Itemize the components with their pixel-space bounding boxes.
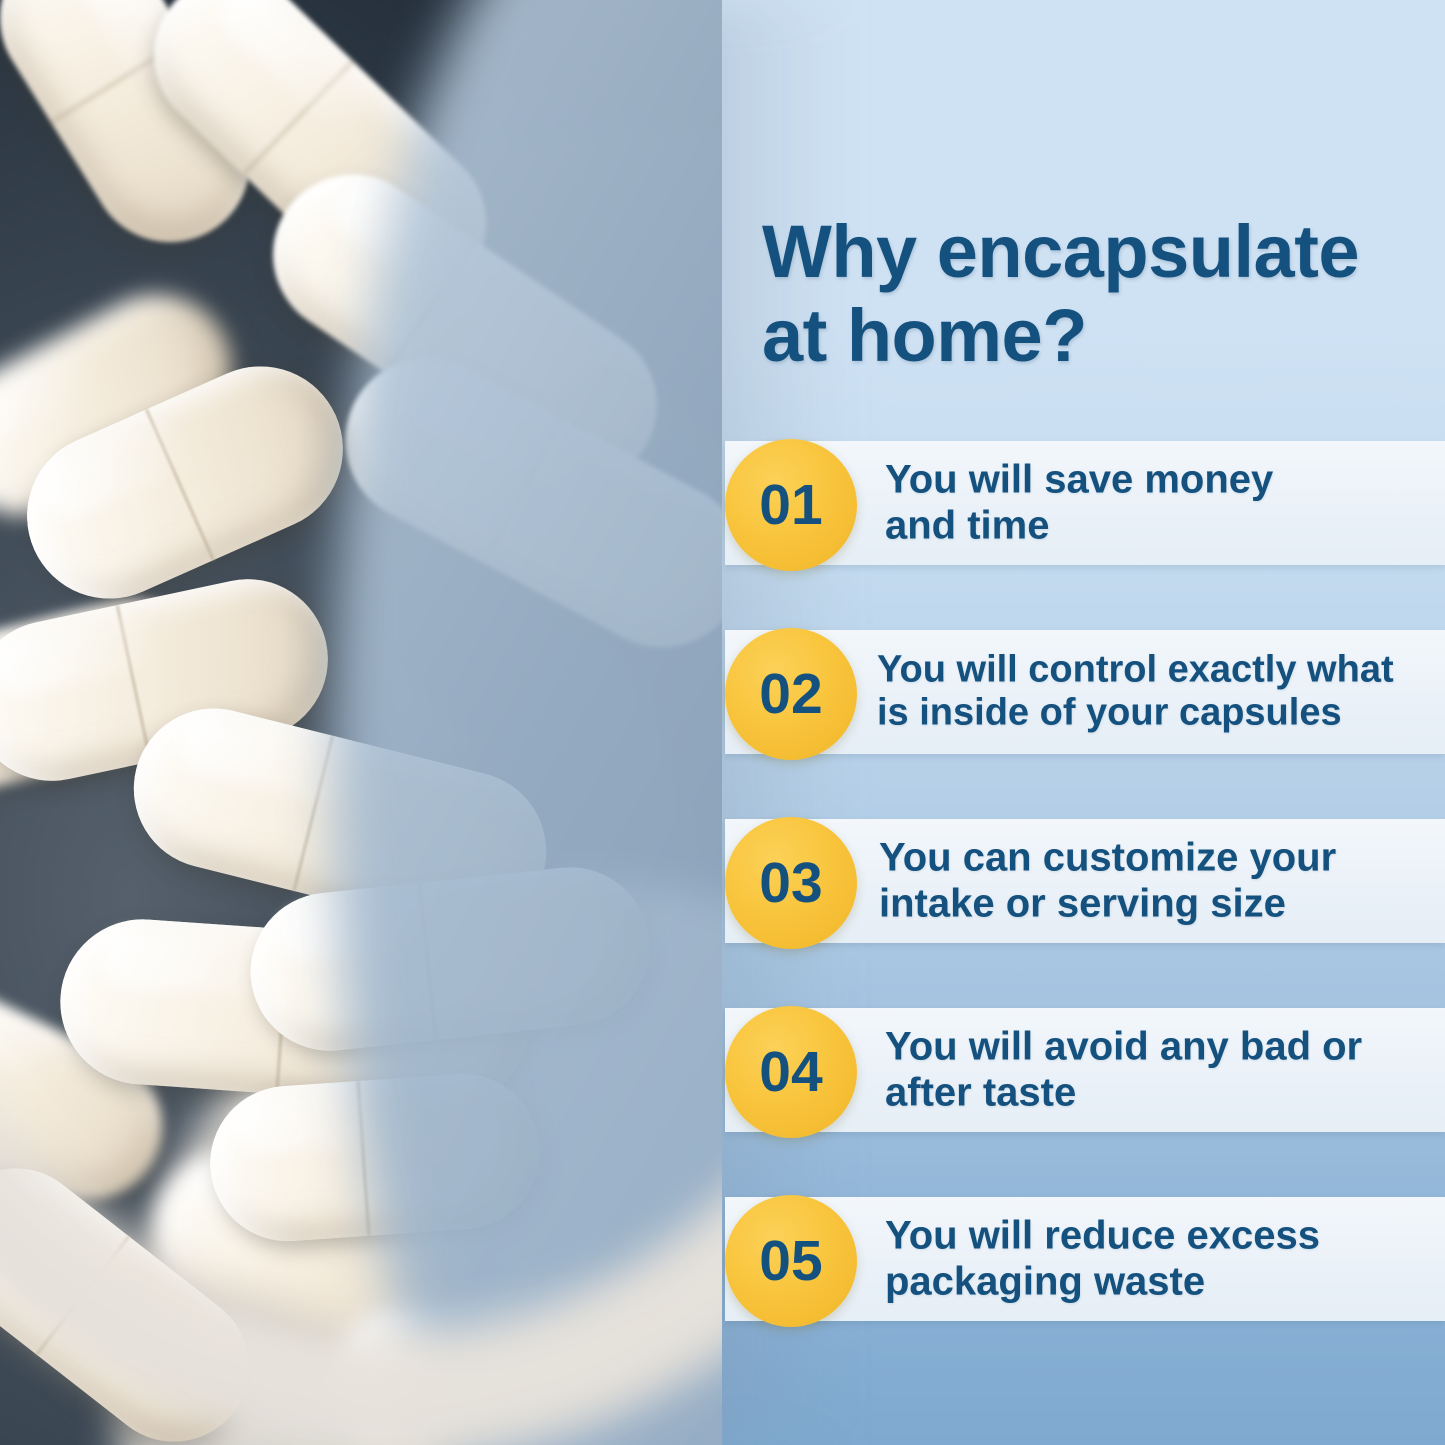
list-item: 04 You will avoid any bad or after taste bbox=[722, 1008, 1445, 1132]
jar-rim bbox=[0, 0, 722, 1445]
page-title-line-2: at home? bbox=[762, 294, 1422, 378]
product-infographic: Why encapsulate at home? 01 You will sav… bbox=[0, 0, 1445, 1445]
capsules-photo bbox=[0, 0, 722, 1445]
list-item-text: You will control exactly what is inside … bbox=[877, 649, 1437, 736]
content-panel: Why encapsulate at home? 01 You will sav… bbox=[722, 0, 1445, 1445]
list-item-text-line-2: after taste bbox=[885, 1070, 1437, 1116]
list-item-number-badge: 04 bbox=[725, 1006, 857, 1138]
list-item-number-badge: 01 bbox=[725, 439, 857, 571]
list-item-text-line-2: is inside of your capsules bbox=[877, 692, 1437, 735]
list-item: 01 You will save money and time bbox=[722, 441, 1445, 565]
list-item-number-badge: 02 bbox=[725, 628, 857, 760]
page-title: Why encapsulate at home? bbox=[762, 210, 1422, 379]
list-item-text: You can customize your intake or serving… bbox=[879, 835, 1437, 926]
list-item-text-line-2: and time bbox=[885, 503, 1437, 549]
list-item-text: You will save money and time bbox=[885, 457, 1437, 548]
list-item-text-line-1: You will reduce excess bbox=[885, 1213, 1320, 1257]
list-item-text-line-1: You will control exactly what bbox=[877, 649, 1394, 691]
list-item-number-badge: 05 bbox=[725, 1195, 857, 1327]
list-item: 03 You can customize your intake or serv… bbox=[722, 819, 1445, 943]
list-item-text-line-1: You will avoid any bad or bbox=[885, 1024, 1362, 1068]
list-item-text-line-2: packaging waste bbox=[885, 1259, 1437, 1305]
list-item: 05 You will reduce excess packaging wast… bbox=[722, 1197, 1445, 1321]
list-item-text-line-1: You will save money bbox=[885, 457, 1273, 501]
list-item-text-line-2: intake or serving size bbox=[879, 881, 1437, 927]
list-item-text: You will reduce excess packaging waste bbox=[885, 1213, 1437, 1304]
list-item: 02 You will control exactly what is insi… bbox=[722, 630, 1445, 754]
list-item-number-badge: 03 bbox=[725, 817, 857, 949]
list-item-text: You will avoid any bad or after taste bbox=[885, 1024, 1437, 1115]
page-title-line-1: Why encapsulate bbox=[762, 210, 1359, 293]
list-item-text-line-1: You can customize your bbox=[879, 835, 1336, 879]
benefits-list: 01 You will save money and time 02 You w… bbox=[722, 441, 1445, 1321]
